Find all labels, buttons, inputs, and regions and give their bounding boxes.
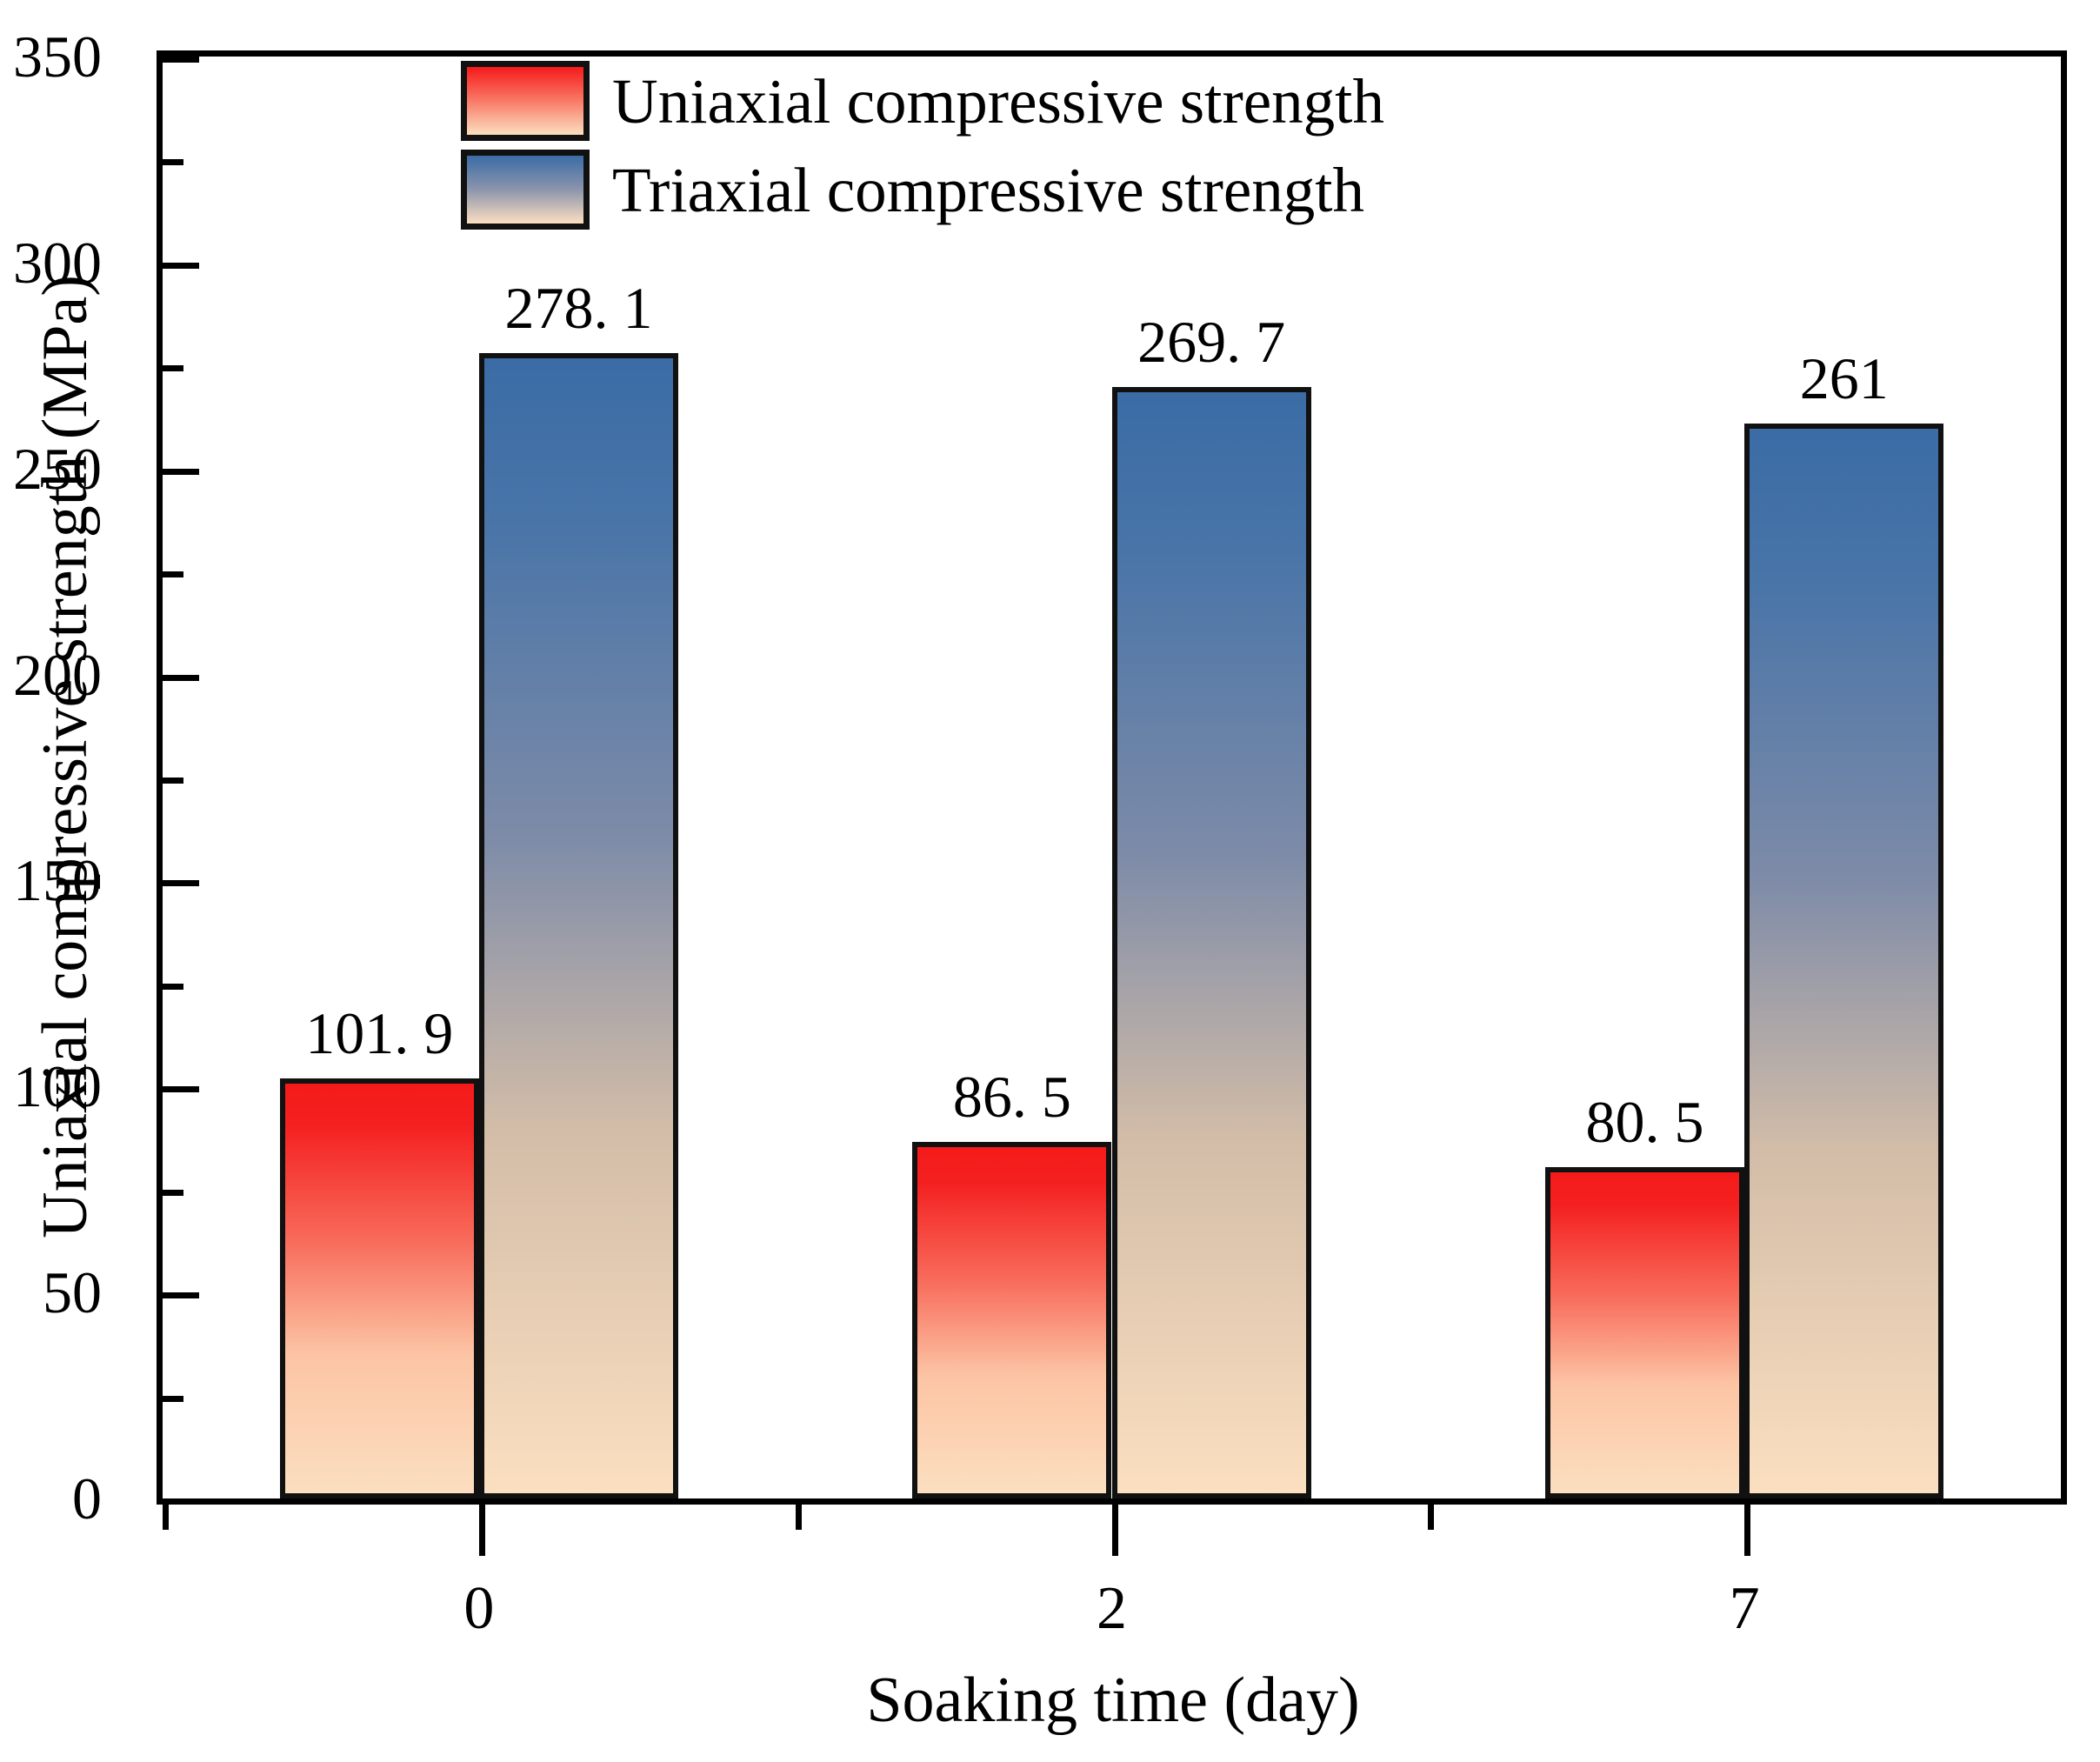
x-tick-major bbox=[479, 1498, 485, 1556]
y-tick-label: 150 bbox=[0, 851, 102, 910]
x-tick-minor bbox=[796, 1498, 802, 1530]
plot-area: 050100150200250300350101. 9278. 1086. 52… bbox=[157, 50, 2067, 1505]
x-tick-label: 7 bbox=[1614, 1578, 1875, 1639]
legend-item-uniaxial[interactable]: Uniaxial compressive strength bbox=[461, 61, 1384, 141]
y-tick-major bbox=[163, 1292, 199, 1298]
y-tick-major bbox=[163, 675, 199, 681]
y-tick-minor bbox=[163, 571, 183, 577]
y-tick-label: 200 bbox=[0, 645, 102, 704]
bar-triaxial-2[interactable] bbox=[1112, 387, 1311, 1498]
x-tick-label: 2 bbox=[982, 1578, 1243, 1639]
y-tick-label: 50 bbox=[0, 1263, 102, 1322]
legend-item-triaxial[interactable]: Triaxial compressive strength bbox=[461, 150, 1384, 230]
y-tick-minor bbox=[163, 365, 183, 371]
x-tick-minor bbox=[1428, 1498, 1434, 1530]
x-tick-minor bbox=[163, 1498, 169, 1530]
bar-uniaxial-2[interactable] bbox=[912, 1142, 1111, 1498]
x-tick-major bbox=[1744, 1498, 1750, 1556]
x-tick-label: 0 bbox=[349, 1578, 610, 1639]
x-tick-major bbox=[1112, 1498, 1118, 1556]
bar-triaxial-0[interactable] bbox=[479, 353, 678, 1498]
y-tick-minor bbox=[163, 1190, 183, 1196]
y-tick-label: 250 bbox=[0, 439, 102, 498]
y-tick-label: 350 bbox=[0, 27, 102, 86]
bar-triaxial-7[interactable] bbox=[1744, 424, 1943, 1498]
y-tick-minor bbox=[163, 984, 183, 990]
bar-uniaxial-0[interactable] bbox=[280, 1078, 479, 1498]
y-tick-major bbox=[163, 263, 199, 269]
legend-swatch-triaxial-icon bbox=[461, 150, 590, 230]
y-tick-label: 0 bbox=[0, 1469, 102, 1528]
y-tick-major bbox=[163, 57, 199, 63]
y-tick-major bbox=[163, 880, 199, 886]
y-tick-major bbox=[163, 1086, 199, 1092]
bar-chart-figure: Uniaxial compressive strength (MPa) Soak… bbox=[0, 0, 2100, 1762]
y-tick-label: 300 bbox=[0, 233, 102, 292]
y-tick-major bbox=[163, 469, 199, 475]
y-tick-minor bbox=[163, 1396, 183, 1402]
bar-value-label: 278. 1 bbox=[404, 278, 752, 337]
plot-canvas: 050100150200250300350101. 9278. 1086. 52… bbox=[163, 57, 2061, 1498]
bar-uniaxial-7[interactable] bbox=[1545, 1167, 1744, 1498]
y-tick-minor bbox=[163, 778, 183, 784]
legend-label-triaxial: Triaxial compressive strength bbox=[612, 158, 1364, 222]
chart-legend: Uniaxial compressive strength Triaxial c… bbox=[461, 61, 1384, 230]
y-tick-label: 100 bbox=[0, 1057, 102, 1116]
legend-label-uniaxial: Uniaxial compressive strength bbox=[612, 70, 1384, 133]
x-axis-title: Soaking time (day) bbox=[157, 1661, 2070, 1739]
bar-value-label: 269. 7 bbox=[1037, 312, 1385, 371]
legend-swatch-uniaxial-icon bbox=[461, 61, 590, 141]
bar-value-label: 261 bbox=[1670, 349, 2018, 408]
y-tick-minor bbox=[163, 159, 183, 165]
